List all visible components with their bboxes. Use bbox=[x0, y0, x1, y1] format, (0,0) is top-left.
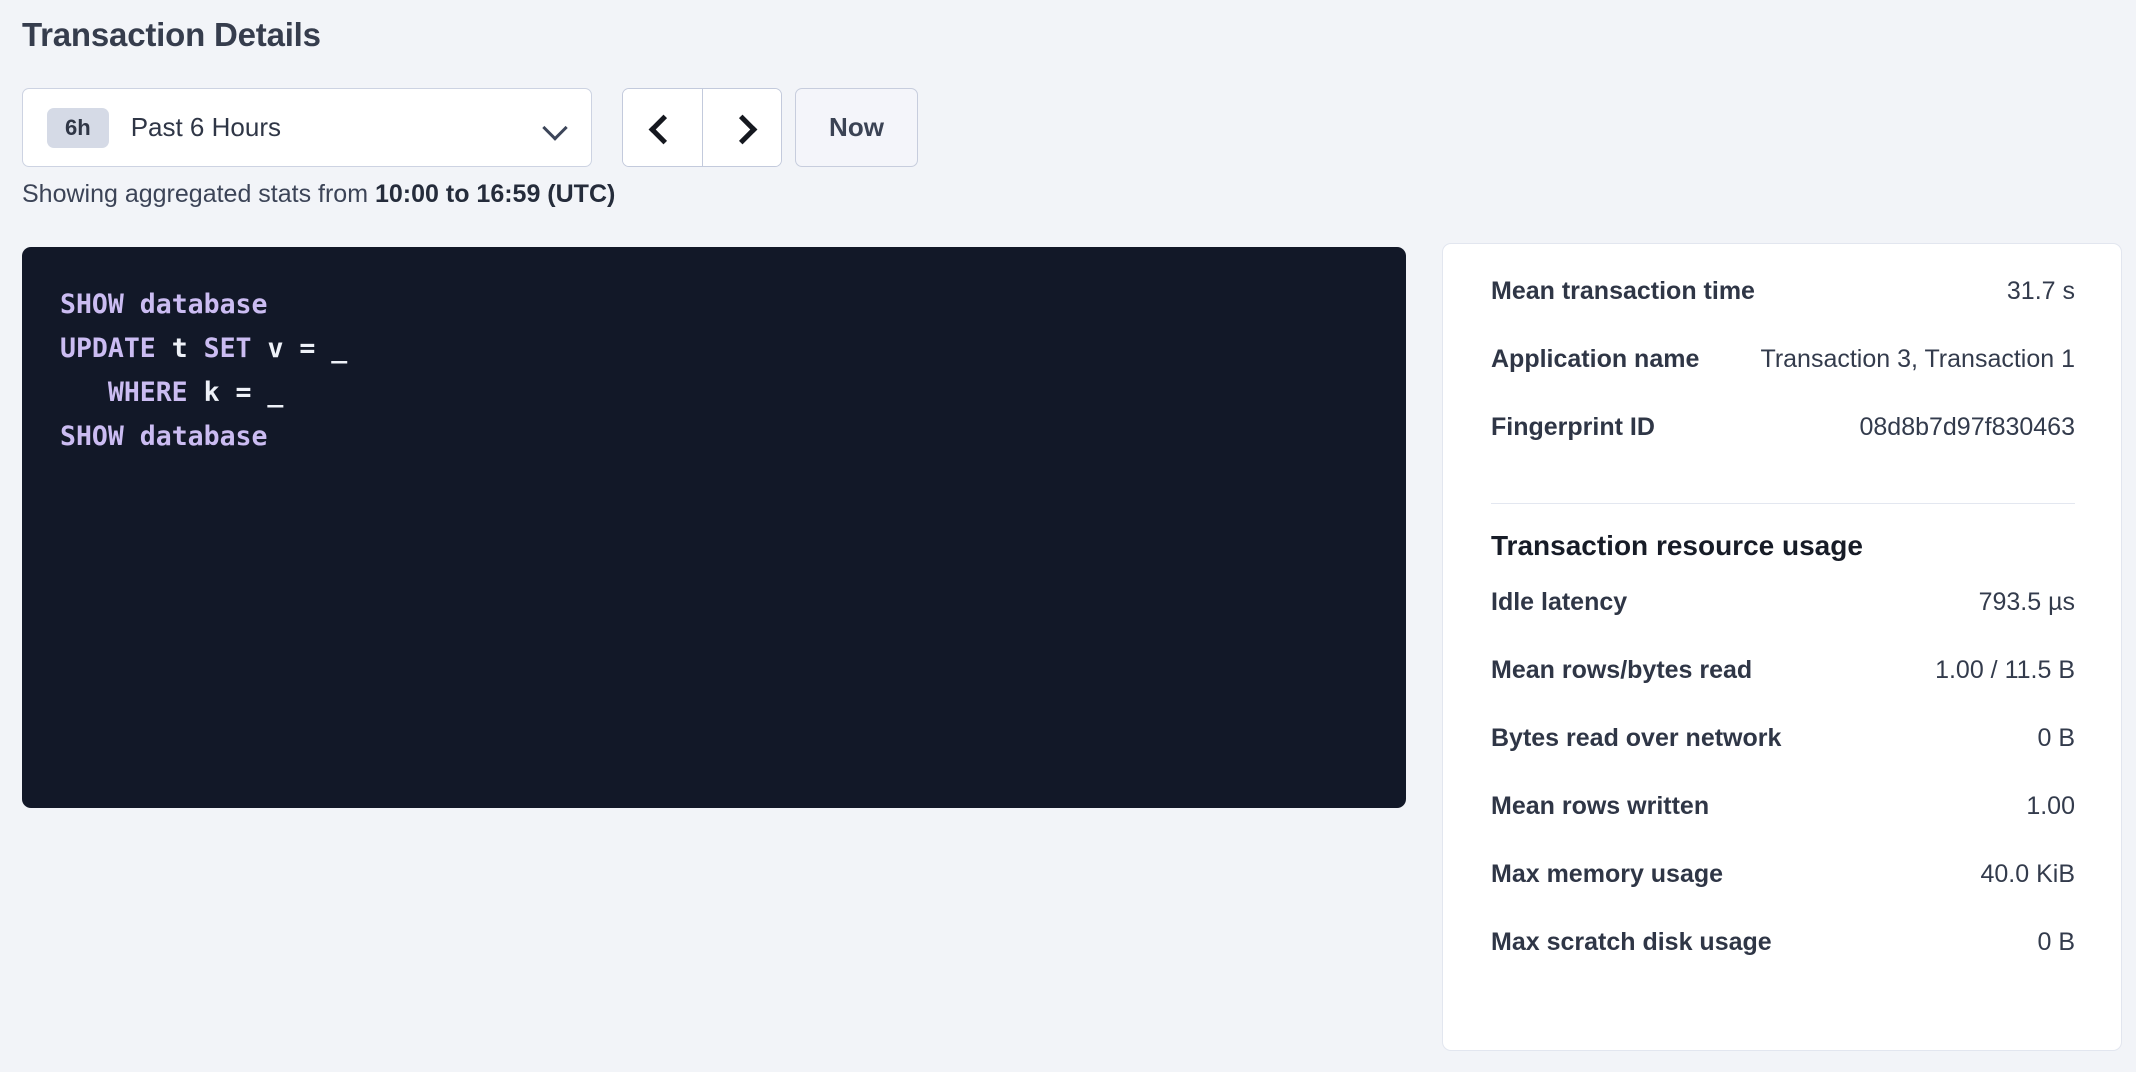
stat-row: Mean rows/bytes read1.00 / 11.5 B bbox=[1491, 656, 2075, 724]
transaction-details-page: Transaction Details 6h Past 6 Hours Now … bbox=[0, 0, 2136, 1072]
time-range-badge: 6h bbox=[47, 108, 109, 148]
sql-statement-text: SHOW databaseUPDATE t SET v = _ WHERE k … bbox=[60, 283, 1406, 459]
now-button[interactable]: Now bbox=[795, 88, 918, 167]
sql-keyword: SET bbox=[204, 333, 252, 364]
sql-identifier bbox=[124, 289, 140, 320]
stat-row: Bytes read over network0 B bbox=[1491, 724, 2075, 792]
stat-row: Max scratch disk usage0 B bbox=[1491, 928, 2075, 996]
stat-label: Bytes read over network bbox=[1491, 724, 1781, 753]
aggregation-range-value: 10:00 to 16:59 (UTC) bbox=[375, 180, 615, 208]
sql-keyword: database bbox=[140, 289, 268, 320]
stat-row: Mean transaction time31.7 s bbox=[1491, 277, 2075, 345]
stat-label: Fingerprint ID bbox=[1491, 413, 1655, 442]
stat-label: Application name bbox=[1491, 345, 1699, 374]
page-title: Transaction Details bbox=[22, 16, 321, 54]
stat-value: 0 B bbox=[2019, 928, 2075, 957]
sql-identifier bbox=[124, 421, 140, 452]
sql-line: UPDATE t SET v = _ bbox=[60, 327, 1406, 371]
time-range-select[interactable]: 6h Past 6 Hours bbox=[22, 88, 592, 167]
chevron-down-icon bbox=[543, 115, 569, 141]
chevron-right-icon bbox=[731, 117, 753, 139]
stat-row: Fingerprint ID08d8b7d97f830463 bbox=[1491, 413, 2075, 481]
sql-line: WHERE k = _ bbox=[60, 371, 1406, 415]
sql-line: SHOW database bbox=[60, 283, 1406, 327]
chevron-left-icon bbox=[652, 117, 674, 139]
sql-identifier: v = _ bbox=[251, 333, 347, 364]
stat-value: 0 B bbox=[2019, 724, 2075, 753]
aggregation-range-prefix: Showing aggregated stats from bbox=[22, 180, 375, 208]
time-range-label: Past 6 Hours bbox=[131, 112, 543, 143]
sql-keyword: WHERE bbox=[60, 377, 188, 408]
stats-divider bbox=[1491, 503, 2075, 504]
stat-row: Application nameTransaction 3, Transacti… bbox=[1491, 345, 2075, 413]
sql-identifier: t bbox=[156, 333, 204, 364]
time-nav-group bbox=[622, 88, 782, 167]
sql-statement-card: SHOW databaseUPDATE t SET v = _ WHERE k … bbox=[22, 247, 1406, 808]
stat-label: Idle latency bbox=[1491, 588, 1627, 617]
stat-label: Mean rows written bbox=[1491, 792, 1709, 821]
transaction-stats-card: Mean transaction time31.7 sApplication n… bbox=[1442, 243, 2122, 1051]
next-range-button[interactable] bbox=[702, 89, 781, 166]
stat-value: 1.00 bbox=[2008, 792, 2075, 821]
stat-value: Transaction 3, Transaction 1 bbox=[1742, 345, 2075, 374]
stat-value: 08d8b7d97f830463 bbox=[1841, 413, 2075, 442]
stat-value: 1.00 / 11.5 B bbox=[1917, 656, 2075, 685]
stat-value: 40.0 KiB bbox=[1962, 860, 2075, 889]
sql-keyword: database bbox=[140, 421, 268, 452]
stat-value: 31.7 s bbox=[1989, 277, 2075, 306]
sql-keyword: SHOW bbox=[60, 421, 124, 452]
time-range-toolbar: 6h Past 6 Hours Now bbox=[22, 88, 592, 167]
stat-label: Max memory usage bbox=[1491, 860, 1723, 889]
resource-stats-list: Idle latency793.5 µsMean rows/bytes read… bbox=[1491, 588, 2075, 996]
stat-label: Mean rows/bytes read bbox=[1491, 656, 1752, 685]
stat-label: Mean transaction time bbox=[1491, 277, 1755, 306]
sql-keyword: SHOW bbox=[60, 289, 124, 320]
resource-usage-heading: Transaction resource usage bbox=[1491, 530, 2075, 562]
previous-range-button[interactable] bbox=[623, 89, 702, 166]
stat-row: Max memory usage40.0 KiB bbox=[1491, 860, 2075, 928]
stat-label: Max scratch disk usage bbox=[1491, 928, 1772, 957]
stat-row: Idle latency793.5 µs bbox=[1491, 588, 2075, 656]
sql-line: SHOW database bbox=[60, 415, 1406, 459]
sql-keyword: UPDATE bbox=[60, 333, 156, 364]
sql-identifier: k = _ bbox=[188, 377, 284, 408]
aggregation-range-text: Showing aggregated stats from 10:00 to 1… bbox=[22, 180, 615, 209]
overview-stats-list: Mean transaction time31.7 sApplication n… bbox=[1491, 277, 2075, 481]
stat-value: 793.5 µs bbox=[1961, 588, 2075, 617]
stat-row: Mean rows written1.00 bbox=[1491, 792, 2075, 860]
